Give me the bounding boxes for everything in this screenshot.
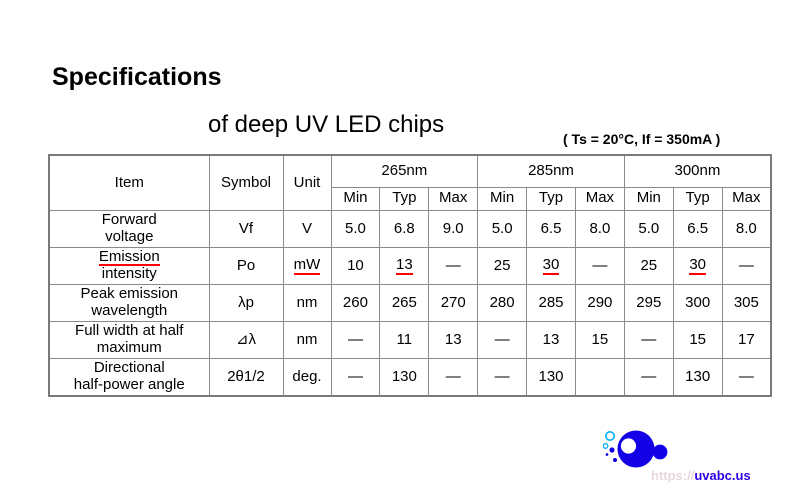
cell-item-line1: Directional — [94, 359, 165, 376]
cell-unit: nm — [283, 285, 331, 322]
test-condition-note: ( Ts = 20°C, If = 350mA ) — [563, 131, 720, 147]
column-header-item: Item — [49, 155, 209, 211]
cell-symbol: ⊿λ — [209, 322, 283, 359]
cell-value-text: 13 — [396, 257, 413, 275]
site-logo: https://uvabc.us — [603, 424, 783, 490]
cell-value: 30 — [673, 248, 722, 285]
table-row: ForwardvoltageVfV5.06.89.05.06.58.05.06.… — [49, 211, 771, 248]
cell-item-line2: intensity — [102, 265, 157, 282]
cell-value: — — [429, 359, 478, 397]
logo-url: https://uvabc.us — [651, 468, 751, 483]
cell-item: Directionalhalf-power angle — [49, 359, 209, 397]
cell-item-line2: wavelength — [91, 302, 167, 319]
cell-value: 280 — [478, 285, 527, 322]
cell-value: 305 — [722, 285, 771, 322]
cell-value: — — [478, 322, 527, 359]
cell-value: — — [331, 359, 380, 397]
cell-value: 8.0 — [722, 211, 771, 248]
cell-value: 295 — [624, 285, 673, 322]
subheader-285nm-typ: Typ — [527, 187, 576, 210]
cell-unit: nm — [283, 322, 331, 359]
table-body: ForwardvoltageVfV5.06.89.05.06.58.05.06.… — [49, 211, 771, 397]
cell-unit: deg. — [283, 359, 331, 397]
cell-value: 5.0 — [478, 211, 527, 248]
cell-value: 13 — [380, 248, 429, 285]
column-group-header-300nm: 300nm — [624, 155, 771, 187]
cell-item-line2: half-power angle — [74, 376, 185, 393]
cell-value: 17 — [722, 322, 771, 359]
cell-value: 30 — [527, 248, 576, 285]
table-head: Item Symbol Unit 265nm 285nm 300nm Min T… — [49, 155, 771, 211]
cell-value: — — [624, 359, 673, 397]
cell-value-text: 30 — [689, 257, 706, 275]
column-header-symbol: Symbol — [209, 155, 283, 211]
subheader-300nm-min: Min — [624, 187, 673, 210]
cell-value: 300 — [673, 285, 722, 322]
cell-value: 6.5 — [673, 211, 722, 248]
cell-symbol: Vf — [209, 211, 283, 248]
cell-value: 25 — [624, 248, 673, 285]
cell-value: 9.0 — [429, 211, 478, 248]
cell-value — [575, 359, 624, 397]
cell-item: Forwardvoltage — [49, 211, 209, 248]
cell-value: 11 — [380, 322, 429, 359]
table-row: EmissionintensityPomW1013—2530—2530— — [49, 248, 771, 285]
specifications-table-container: Item Symbol Unit 265nm 285nm 300nm Min T… — [48, 154, 770, 397]
cell-value: 130 — [527, 359, 576, 397]
cell-value: 13 — [429, 322, 478, 359]
cell-value: 15 — [575, 322, 624, 359]
cell-value: 10 — [331, 248, 380, 285]
subheader-285nm-min: Min — [478, 187, 527, 210]
cell-value: — — [331, 322, 380, 359]
page-title: Specifications — [52, 63, 222, 92]
cell-unit: V — [283, 211, 331, 248]
cell-value: — — [722, 248, 771, 285]
cell-value: — — [478, 359, 527, 397]
cell-item-line2: maximum — [97, 339, 162, 356]
table-row: Full width at halfmaximum⊿λnm—1113—1315—… — [49, 322, 771, 359]
cell-value: — — [575, 248, 624, 285]
page-subtitle: of deep UV LED chips — [208, 111, 444, 139]
column-group-header-285nm: 285nm — [478, 155, 625, 187]
cell-unit: mW — [283, 248, 331, 285]
cell-value: 6.8 — [380, 211, 429, 248]
cell-item-line1: Peak emission — [80, 285, 178, 302]
cell-item-line1: Emission — [99, 249, 160, 267]
cell-item: Peak emissionwavelength — [49, 285, 209, 322]
cell-symbol: 2θ1/2 — [209, 359, 283, 397]
cell-value: 15 — [673, 322, 722, 359]
cell-symbol: Po — [209, 248, 283, 285]
table-row: Peak emissionwavelengthλpnm2602652702802… — [49, 285, 771, 322]
subheader-300nm-typ: Typ — [673, 187, 722, 210]
cell-value: 13 — [527, 322, 576, 359]
column-group-header-265nm: 265nm — [331, 155, 478, 187]
cell-value: 5.0 — [624, 211, 673, 248]
logo-url-protocol: https:// — [651, 468, 694, 483]
subheader-300nm-max: Max — [722, 187, 771, 210]
logo-url-host: uvabc.us — [694, 468, 750, 483]
column-header-unit: Unit — [283, 155, 331, 211]
cell-value: — — [429, 248, 478, 285]
subheader-265nm-max: Max — [429, 187, 478, 210]
cell-value: 130 — [380, 359, 429, 397]
cell-value: 5.0 — [331, 211, 380, 248]
cell-item-line1: Full width at half — [75, 322, 183, 339]
cell-value: 8.0 — [575, 211, 624, 248]
cell-item-line2: voltage — [105, 228, 153, 245]
table-header-row-1: Item Symbol Unit 265nm 285nm 300nm — [49, 155, 771, 187]
cell-value: 6.5 — [527, 211, 576, 248]
cell-item-line1: Forward — [102, 211, 157, 228]
cell-value: — — [624, 322, 673, 359]
subheader-265nm-typ: Typ — [380, 187, 429, 210]
cell-value: — — [722, 359, 771, 397]
subheader-285nm-max: Max — [575, 187, 624, 210]
cell-value: 265 — [380, 285, 429, 322]
cell-value: 290 — [575, 285, 624, 322]
cell-item: Emissionintensity — [49, 248, 209, 285]
specifications-table: Item Symbol Unit 265nm 285nm 300nm Min T… — [48, 154, 772, 397]
cell-value: 270 — [429, 285, 478, 322]
subheader-265nm-min: Min — [331, 187, 380, 210]
cell-value: 25 — [478, 248, 527, 285]
cell-value: 130 — [673, 359, 722, 397]
cell-value: 285 — [527, 285, 576, 322]
cell-value-text: 30 — [543, 257, 560, 275]
cell-item: Full width at halfmaximum — [49, 322, 209, 359]
table-row: Directionalhalf-power angle2θ1/2deg.—130… — [49, 359, 771, 397]
cell-unit-text: mW — [294, 257, 321, 275]
cell-value: 260 — [331, 285, 380, 322]
cell-symbol: λp — [209, 285, 283, 322]
